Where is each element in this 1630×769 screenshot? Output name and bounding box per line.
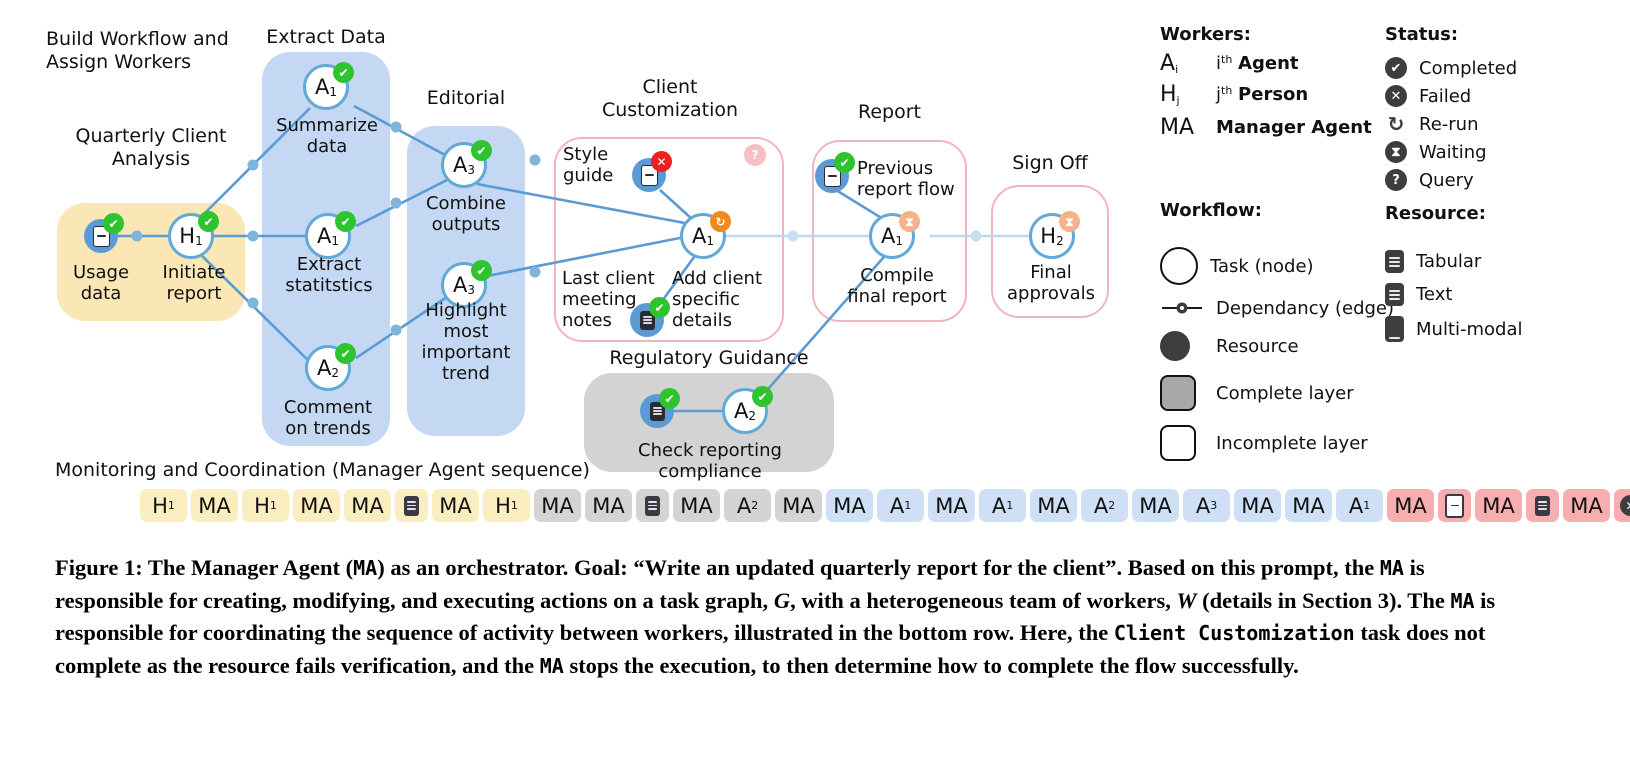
node-a2-comment-on-trends[interactable]: A2 ✔ <box>305 345 351 391</box>
sequence-cell-ma[interactable]: MA <box>1285 489 1332 522</box>
rerun-icon: ↻ <box>1385 113 1407 135</box>
node-label: A1 <box>315 75 337 99</box>
complete-layer-icon <box>1160 375 1196 411</box>
title-client-customization: Client Customization <box>570 76 770 122</box>
sequence-cell-a1[interactable]: A1 <box>877 489 924 522</box>
sequence-cell-ma[interactable]: MA <box>1475 489 1522 522</box>
caption-ma-2: MA <box>1380 556 1404 580</box>
sequence-cell-ma[interactable]: MA <box>344 489 391 522</box>
title-extract-data: Extract Data <box>255 26 397 49</box>
sequence-cell-ma[interactable]: MA <box>1030 489 1077 522</box>
legend-status-rerun-label: Re-run <box>1419 114 1478 135</box>
title-report: Report <box>812 101 967 124</box>
status-completed-icon: ✔ <box>103 213 124 234</box>
sequence-cell-ma[interactable]: MA <box>1132 489 1179 522</box>
legend-status-heading: Status: <box>1385 24 1517 45</box>
resource-usage-data-label: Usage data <box>61 262 141 304</box>
legend-status-failed: ✕ Failed <box>1385 85 1517 107</box>
resource-previous-report[interactable]: ✔ <box>815 159 849 193</box>
legend-workflow: Workflow: Task (node) Dependancy (edge) … <box>1160 200 1394 461</box>
legend-resource-heading: Resource: <box>1385 203 1523 224</box>
status-query-icon: ? <box>744 144 766 166</box>
check-icon: ✔ <box>1385 57 1407 79</box>
sequence-cell-ma[interactable]: MA <box>585 489 632 522</box>
legend-workers: Workers: Ai ith Agent Hj jth Person MA M… <box>1160 24 1372 140</box>
legend-worker-person: Hj jth Person <box>1160 82 1372 107</box>
title-quarterly-client-analysis: Quarterly Client Analysis <box>58 125 244 171</box>
legend-status-query: ? Query <box>1385 169 1517 191</box>
title-build-workflow: Build Workflow and Assign Workers <box>46 28 276 74</box>
resource-style-guide-label: Style guide <box>563 144 635 186</box>
legend-status-waiting: ⧗ Waiting <box>1385 141 1517 163</box>
sequence-cell-ma[interactable]: MA <box>534 489 581 522</box>
node-a1-compile-final-report[interactable]: A1 ⧗ <box>869 213 915 259</box>
resource-previous-report-label: Previous report flow <box>857 158 967 200</box>
tabular-icon <box>1385 250 1404 273</box>
caption-p2: ) as an orchestrator. Goal: “Write an up… <box>377 555 1380 580</box>
node-label: A3 <box>453 273 475 297</box>
title-editorial: Editorial <box>402 87 530 110</box>
resource-compliance-doc[interactable]: ✔ <box>640 394 674 428</box>
task-node-icon <box>1160 247 1198 285</box>
node-a1-summarize-data-label: Summarize data <box>268 115 386 157</box>
node-h1-initiate-report[interactable]: H1 ✔ <box>168 213 214 259</box>
node-a3-combine-outputs-label: Combine outputs <box>410 193 522 235</box>
sequence-cell-a2[interactable]: A2 <box>724 489 771 522</box>
node-a1-extract-statistics[interactable]: A1 ✔ <box>305 213 351 259</box>
diagram-canvas: Build Workflow and Assign Workers Quarte… <box>0 0 1630 540</box>
legend-status-completed: ✔ Completed <box>1385 57 1517 79</box>
node-label: A1 <box>881 224 903 248</box>
sequence-cell-text-resource[interactable] <box>395 489 428 522</box>
legend-resource-text: Text <box>1385 283 1523 306</box>
hourglass-icon: ⧗ <box>1385 141 1407 163</box>
title-monitoring-coordination: Monitoring and Coordination (Manager Age… <box>55 459 590 481</box>
node-a3-highlight-trend-label: Highlight most important trend <box>410 300 522 384</box>
legend-workflow-heading: Workflow: <box>1160 200 1394 221</box>
status-waiting-icon: ⧗ <box>1059 211 1080 232</box>
sequence-cell-multimodal-resource[interactable] <box>1438 489 1471 522</box>
text-icon <box>1385 283 1404 306</box>
legend-worker-person-label: jth Person <box>1216 84 1308 105</box>
resource-usage-data[interactable]: ✔ <box>84 219 118 253</box>
legend-task-node: Task (node) <box>1160 247 1394 285</box>
caption-ma-4: MA <box>540 654 564 678</box>
caption-ma-3: MA <box>1450 589 1474 613</box>
status-completed-icon: ✔ <box>198 211 219 232</box>
legend-resource-types: Resource: Tabular Text Multi-modal <box>1385 203 1523 342</box>
node-a2-check-compliance-label: Check reporting compliance <box>591 440 829 482</box>
status-completed-icon: ✔ <box>659 388 680 409</box>
status-completed-icon: ✔ <box>834 152 855 173</box>
agent-symbol-icon: Ai <box>1160 51 1204 76</box>
resource-dot-icon <box>1160 331 1190 361</box>
status-rerun-icon: ↻ <box>710 211 731 232</box>
node-a1-compile-final-report-label: Compile final report <box>832 265 962 307</box>
node-a1-add-client-details[interactable]: A1 ↻ <box>680 213 726 259</box>
legend-incomplete-layer-label: Incomplete layer <box>1216 433 1368 454</box>
sequence-cell-a2[interactable]: A2 <box>1081 489 1128 522</box>
node-label: A2 <box>317 356 339 380</box>
legend-worker-agent: Ai ith Agent <box>1160 51 1372 76</box>
status-completed-icon: ✔ <box>333 62 354 83</box>
caption-prefix: Figure 1: The Manager Agent ( <box>55 555 353 580</box>
sequence-cell-ma[interactable]: MA <box>1234 489 1281 522</box>
sequence-cell-h1[interactable]: H1 <box>140 489 187 522</box>
status-completed-icon: ✔ <box>471 140 492 161</box>
title-sign-off: Sign Off <box>991 152 1109 175</box>
legend-worker-manager-agent-label: Manager Agent <box>1216 117 1372 138</box>
person-symbol-icon: Hj <box>1160 82 1204 107</box>
legend-dependency-edge: Dependancy (edge) <box>1160 297 1394 319</box>
sequence-cell-ma[interactable]: MA <box>293 489 340 522</box>
status-waiting-icon: ⧗ <box>899 211 920 232</box>
legend-worker-agent-label: ith Agent <box>1216 53 1299 74</box>
legend-status-rerun: ↻ Re-run <box>1385 113 1517 135</box>
sequence-cell-h1[interactable]: H1 <box>242 489 289 522</box>
legend-task-node-label: Task (node) <box>1210 256 1314 277</box>
sequence-cell-a1[interactable]: A1 <box>1336 489 1383 522</box>
node-a3-combine-outputs[interactable]: A3 ✔ <box>441 142 487 188</box>
node-label: A1 <box>317 224 339 248</box>
sequence-cell-ma[interactable]: MA <box>673 489 720 522</box>
sequence-cell-ma[interactable]: MA <box>432 489 479 522</box>
legend-status-waiting-label: Waiting <box>1419 142 1487 163</box>
incomplete-layer-icon <box>1160 425 1196 461</box>
legend-resource: Resource <box>1160 331 1394 361</box>
caption-p4: , with a heterogeneous team of workers, <box>790 588 1176 613</box>
caption-client-customization: Client Customization <box>1114 621 1355 645</box>
legend-status-failed-label: Failed <box>1419 86 1471 107</box>
manager-agent-sequence: H1MAH1MAMAMAH1MAMAMAA2MAMAA1MAA1MAA2MAA3… <box>140 489 1630 522</box>
edge-icon <box>1160 297 1204 319</box>
sequence-cell-a1[interactable]: A1 <box>979 489 1026 522</box>
sequence-cell-a3[interactable]: A3 <box>1183 489 1230 522</box>
node-label: A1 <box>692 224 714 248</box>
legend-complete-layer: Complete layer <box>1160 375 1394 411</box>
cross-icon: ✕ <box>1385 85 1407 107</box>
sequence-cell-ma[interactable]: MA <box>928 489 975 522</box>
legend-status-completed-label: Completed <box>1419 58 1517 79</box>
legend-resource-text-label: Text <box>1416 284 1452 305</box>
status-failed-icon: ✕ <box>651 151 672 172</box>
node-a1-extract-statistics-label: Extract statitstics <box>268 254 390 296</box>
sequence-cell-ma[interactable]: MA <box>826 489 873 522</box>
caption-p5: (details in Section 3). The <box>1196 588 1450 613</box>
legend-resource-multimodal-label: Multi-modal <box>1416 319 1523 340</box>
multimodal-icon <box>1385 316 1404 342</box>
sequence-cell-text-resource[interactable] <box>1526 489 1559 522</box>
manager-agent-symbol-icon: MA <box>1160 115 1204 140</box>
legend-dependency-edge-label: Dependancy (edge) <box>1216 298 1394 319</box>
resource-meeting-notes-label: Last client meeting notes <box>562 268 670 331</box>
title-regulatory-guidance: Regulatory Guidance <box>578 347 840 370</box>
legend-resource-label: Resource <box>1216 336 1299 357</box>
sequence-cell-ma[interactable]: MA <box>1563 489 1610 522</box>
legend-status-query-label: Query <box>1419 170 1474 191</box>
caption-graph-symbol: G <box>774 588 790 613</box>
figure-root: Build Workflow and Assign Workers Quarte… <box>0 0 1630 769</box>
caption-ma-1: MA <box>353 556 377 580</box>
legend-resource-multimodal: Multi-modal <box>1385 316 1523 342</box>
node-label: A3 <box>453 153 475 177</box>
node-a2-check-compliance[interactable]: A2 ✔ <box>722 388 768 434</box>
sequence-cell-h1[interactable]: H1 <box>483 489 530 522</box>
caption-workers-symbol: W <box>1176 588 1196 613</box>
node-a1-summarize-data[interactable]: A1 ✔ <box>303 64 349 110</box>
legend-status: Status: ✔ Completed ✕ Failed ↻ Re-run ⧗ … <box>1385 24 1517 191</box>
legend-resource-tabular: Tabular <box>1385 250 1523 273</box>
legend-incomplete-layer: Incomplete layer <box>1160 425 1394 461</box>
question-icon: ? <box>1385 169 1407 191</box>
sequence-cell-failed[interactable]: ✕ <box>1614 489 1630 522</box>
status-completed-icon: ✔ <box>471 260 492 281</box>
sequence-cell-ma[interactable]: MA <box>775 489 822 522</box>
node-h2-final-approvals[interactable]: H2 ⧗ <box>1029 213 1075 259</box>
status-completed-icon: ✔ <box>335 211 356 232</box>
legend-complete-layer-label: Complete layer <box>1216 383 1354 404</box>
figure-caption: Figure 1: The Manager Agent (MA) as an o… <box>55 552 1521 682</box>
status-completed-icon: ✔ <box>335 343 356 364</box>
node-label: A2 <box>734 399 756 423</box>
resource-style-guide[interactable]: ✕ <box>632 158 666 192</box>
node-a1-add-client-details-label: Add client specific details <box>672 268 782 331</box>
legend-resource-tabular-label: Tabular <box>1416 251 1481 272</box>
node-h1-initiate-report-label: Initiate report <box>148 262 240 304</box>
status-completed-icon: ✔ <box>752 386 773 407</box>
sequence-cell-ma[interactable]: MA <box>1387 489 1434 522</box>
sequence-cell-text-resource[interactable] <box>636 489 669 522</box>
sequence-cell-ma[interactable]: MA <box>191 489 238 522</box>
caption-p8: stops the execution, to then determine h… <box>564 653 1299 678</box>
node-a2-comment-on-trends-label: Comment on trends <box>268 397 388 439</box>
legend-workers-heading: Workers: <box>1160 24 1372 45</box>
node-h2-final-approvals-label: Final approvals <box>996 262 1106 304</box>
legend-worker-manager-agent: MA Manager Agent <box>1160 115 1372 140</box>
